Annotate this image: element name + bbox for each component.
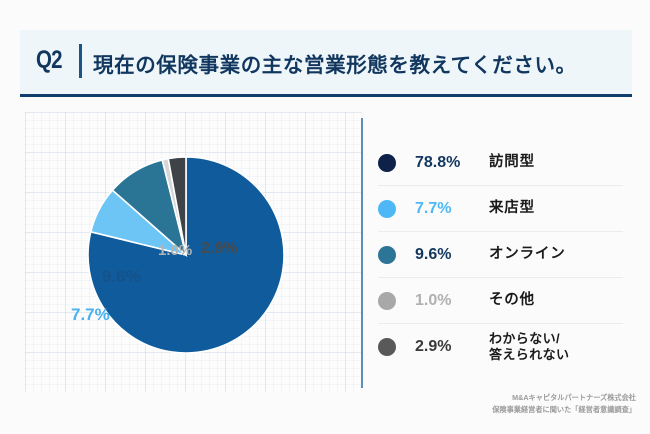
legend-dot-icon-sonota bbox=[378, 292, 396, 310]
page-title: 現在の保険事業の主な営業形態を教えてください。 bbox=[93, 48, 577, 78]
legend-percent-sonota: 1.0% bbox=[415, 292, 489, 310]
legend-percent-wakaranai: 2.9% bbox=[415, 338, 489, 356]
legend-label-houmon: 訪問型 bbox=[489, 154, 535, 172]
footer-line-2: 保険事業経営者に聞いた「経営者意識調査」 bbox=[306, 404, 636, 416]
legend-label-online: オンライン bbox=[489, 246, 566, 264]
legend-percent-online: 9.6% bbox=[415, 246, 489, 264]
slide-canvas: Q2 現在の保険事業の主な営業形態を教えてください。 78.8% 7.7% 9.… bbox=[0, 0, 650, 434]
legend-row-sonota[interactable]: 1.0% その他 bbox=[378, 278, 623, 324]
pie-label-raiten: 7.7% bbox=[71, 305, 110, 325]
question-number-badge: Q2 bbox=[36, 46, 62, 75]
legend-label-raiten: 来店型 bbox=[489, 200, 535, 218]
legend-label-wakaranai-line1: わからない/ bbox=[489, 331, 560, 346]
legend-dot-icon-wakaranai bbox=[378, 338, 396, 356]
header-underline bbox=[20, 94, 632, 97]
pie-label-online: 9.6% bbox=[102, 267, 141, 287]
legend-percent-houmon: 78.8% bbox=[415, 154, 489, 172]
footer-line-1: M&Aキャピタルパートナーズ株式会社 bbox=[306, 392, 636, 404]
pie-chart: 78.8% 7.7% 9.6% 1.0% 2.9% bbox=[25, 112, 362, 392]
footer-credit: M&Aキャピタルパートナーズ株式会社 保険事業経営者に聞いた「経営者意識調査」 bbox=[306, 392, 636, 416]
legend-row-houmon[interactable]: 78.8% 訪問型 bbox=[378, 140, 623, 186]
legend-row-wakaranai[interactable]: 2.9% わからない/ 答えられない bbox=[378, 324, 623, 370]
legend-dot-icon-online bbox=[378, 246, 396, 264]
legend-percent-raiten: 7.7% bbox=[415, 200, 489, 218]
legend-label-sonota: その他 bbox=[489, 292, 535, 310]
legend-dot-icon-houmon bbox=[378, 154, 396, 172]
pie-label-wakaranai: 2.9% bbox=[201, 240, 237, 258]
legend-label-wakaranai-line2: 答えられない bbox=[489, 347, 569, 362]
legend-row-raiten[interactable]: 7.7% 来店型 bbox=[378, 186, 623, 232]
legend-label-wakaranai: わからない/ 答えられない bbox=[489, 331, 569, 363]
header-vertical-divider bbox=[79, 44, 82, 78]
legend-row-online[interactable]: 9.6% オンライン bbox=[378, 232, 623, 278]
pie-label-sonota: 1.0% bbox=[158, 242, 192, 259]
pie-svg bbox=[25, 112, 362, 392]
legend: 78.8% 訪問型 7.7% 来店型 9.6% オンライン 1.0% その他 2… bbox=[378, 140, 623, 370]
legend-dot-icon-raiten bbox=[378, 200, 396, 218]
